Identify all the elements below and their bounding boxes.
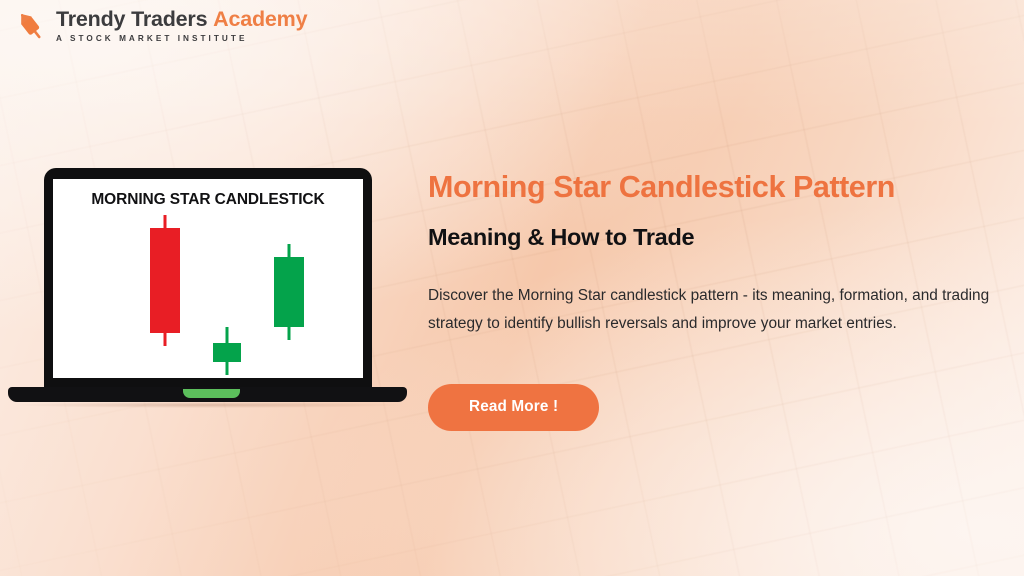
candle-2 (213, 215, 241, 375)
candlestick-arrow-icon (14, 9, 48, 43)
laptop-lid: MORNING STAR CANDLESTICK (44, 168, 372, 391)
candle-1 (150, 215, 180, 375)
promo-banner: Trendy Traders Academy A STOCK MARKET IN… (0, 0, 1024, 576)
candle-3-body (274, 257, 304, 327)
cta-container: Read More ! (428, 384, 1003, 430)
description-text: Discover the Morning Star candlestick pa… (428, 282, 996, 338)
logo-name-primary: Trendy Traders (56, 7, 207, 31)
logo-text: Trendy Traders Academy A STOCK MARKET IN… (56, 8, 307, 43)
page-subtitle: Meaning & How to Trade (428, 223, 1003, 251)
laptop-screen: MORNING STAR CANDLESTICK (53, 179, 363, 378)
brand-logo[interactable]: Trendy Traders Academy A STOCK MARKET IN… (14, 8, 307, 43)
logo-name-line: Trendy Traders Academy (56, 8, 307, 31)
candlestick-chart (53, 215, 363, 375)
read-more-button[interactable]: Read More ! (428, 384, 599, 430)
candle-1-body (150, 228, 180, 334)
logo-tagline: A STOCK MARKET INSTITUTE (56, 34, 307, 43)
candle-2-body (213, 343, 241, 362)
laptop-shadow (14, 402, 402, 408)
logo-name-accent: Academy (213, 7, 307, 31)
candle-3 (274, 215, 304, 375)
laptop-trackpad-notch (183, 389, 240, 398)
content-column: Morning Star Candlestick Pattern Meaning… (428, 170, 1003, 431)
page-title: Morning Star Candlestick Pattern (428, 170, 1003, 206)
chart-title: MORNING STAR CANDLESTICK (53, 191, 363, 209)
